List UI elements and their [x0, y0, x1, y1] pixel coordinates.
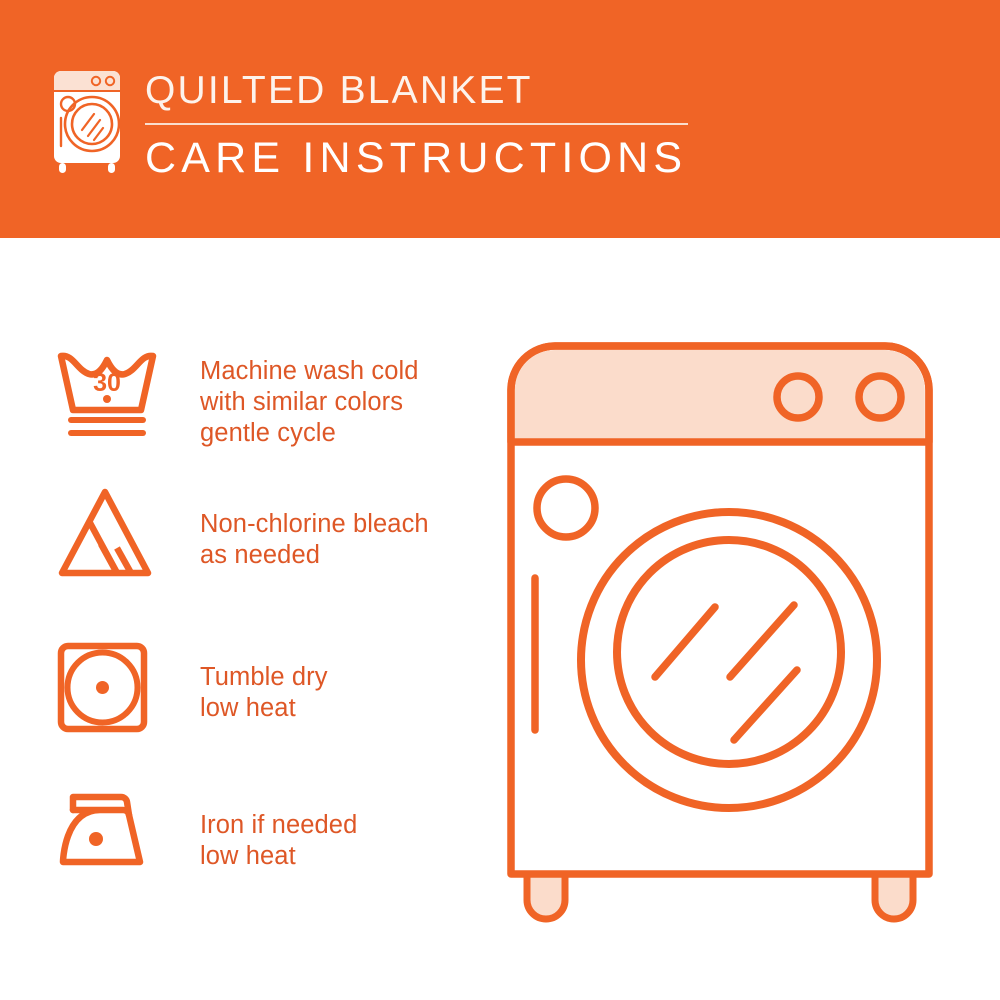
non-chlorine-bleach-triangle-icon	[55, 486, 155, 584]
front-load-washing-machine-illustration	[487, 330, 977, 950]
care-line: low heat	[200, 693, 328, 724]
tumble-dry-low-heat-icon	[55, 640, 150, 740]
top-control-panel	[515, 350, 925, 442]
care-item-tumble-dry-text: Tumble dry low heat	[200, 662, 328, 724]
page-title-secondary: CARE INSTRUCTIONS	[145, 132, 845, 184]
care-item-iron-text: Iron if needed low heat	[200, 810, 357, 872]
header-title-block: QUILTED BLANKET CARE INSTRUCTIONS	[145, 68, 845, 184]
page-title-primary: QUILTED BLANKET	[145, 68, 845, 114]
washing-machine-icon	[44, 66, 132, 176]
title-divider	[145, 123, 688, 125]
care-line: Non-chlorine bleach	[200, 509, 429, 540]
care-line: Iron if needed	[200, 810, 357, 841]
care-line: Tumble dry	[200, 662, 328, 693]
care-item-bleach-text: Non-chlorine bleach as needed	[200, 509, 429, 571]
care-item-machine-wash-text: Machine wash cold with similar colors ge…	[200, 356, 419, 449]
wash-tub-30-gentle-icon: 30	[55, 348, 160, 448]
care-instructions-list: 30 Machine wash cold with similar colors…	[0, 238, 500, 1000]
care-line: low heat	[200, 841, 357, 872]
care-line: Machine wash cold	[200, 356, 419, 387]
care-instructions-page: QUILTED BLANKET CARE INSTRUCTIONS 30 Mac…	[0, 0, 1000, 1000]
care-line: gentle cycle	[200, 418, 419, 449]
care-line: with similar colors	[200, 387, 419, 418]
care-line: as needed	[200, 540, 429, 571]
iron-low-heat-icon	[55, 790, 155, 875]
wash-temperature-label: 30	[93, 369, 121, 397]
header-band: QUILTED BLANKET CARE INSTRUCTIONS	[0, 0, 1000, 238]
